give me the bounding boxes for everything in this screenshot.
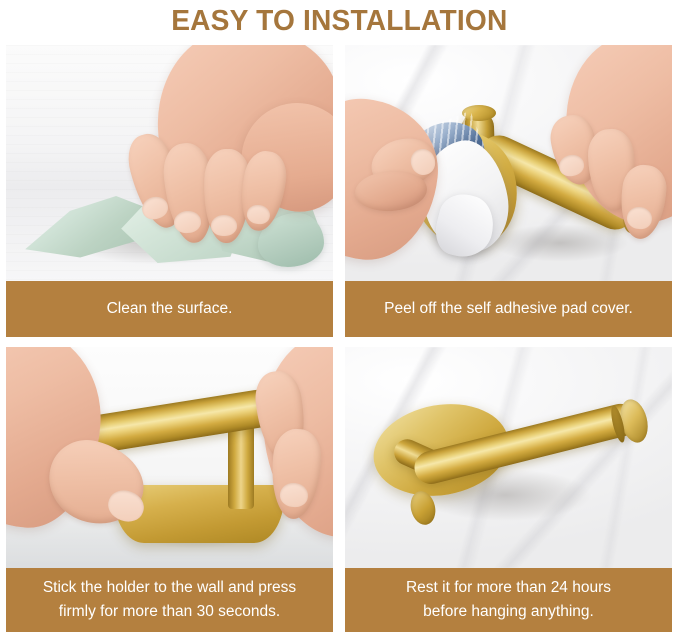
step-3-caption: Stick the holder to the wall and press f…: [6, 568, 333, 632]
step-card-4: Rest it for more than 24 hours before ha…: [345, 347, 672, 632]
installation-instructions-infographic: EASY TO INSTALLATION Cl: [0, 0, 679, 638]
step-2-caption: Peel off the self adhesive pad cover.: [345, 281, 672, 337]
step-4-caption-line-2: before hanging anything.: [406, 600, 611, 624]
step-4-caption: Rest it for more than 24 hours before ha…: [345, 568, 672, 632]
step-2-photo: [345, 45, 672, 281]
step-card-1: Clean the surface.: [6, 45, 333, 337]
step-card-3: Stick the holder to the wall and press f…: [6, 347, 333, 632]
ring-fingernail: [211, 215, 237, 236]
step-1-photo: [6, 45, 333, 281]
step-1-caption-line-1: Clean the surface.: [107, 297, 233, 321]
page-title-text: EASY TO INSTALLATION: [171, 7, 507, 36]
step-2-caption-line-1: Peel off the self adhesive pad cover.: [384, 297, 633, 321]
page-title: EASY TO INSTALLATION: [0, 0, 679, 42]
step-card-2: Peel off the self adhesive pad cover.: [345, 45, 672, 337]
step-3-photo: [6, 347, 333, 568]
step-3-caption-line-1: Stick the holder to the wall and press: [43, 576, 296, 600]
step-4-caption-line-1: Rest it for more than 24 hours: [406, 576, 611, 600]
step-4-photo: [345, 347, 672, 568]
step-1-caption: Clean the surface.: [6, 281, 333, 337]
step-3-caption-line-2: firmly for more than 30 seconds.: [43, 600, 296, 624]
